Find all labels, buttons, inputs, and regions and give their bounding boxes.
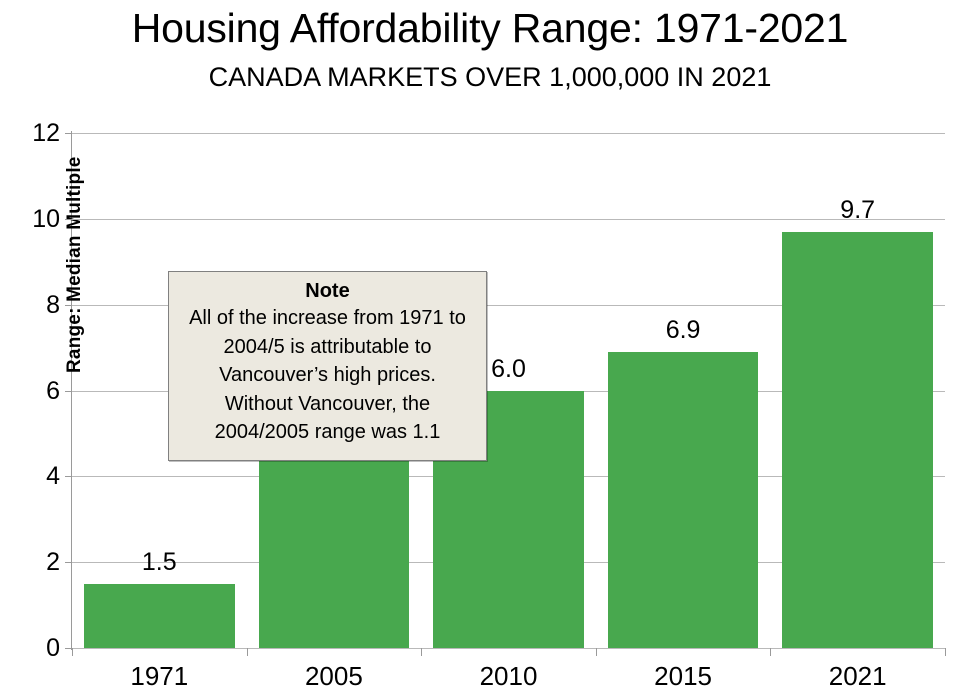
bar-value-label-2015: 6.9 bbox=[608, 318, 759, 343]
x-tick-label-1971: 1971 bbox=[72, 661, 247, 691]
y-tick-mark-4 bbox=[65, 476, 72, 477]
bar-1971[interactable] bbox=[84, 584, 235, 648]
note-line-2: 2004/5 is attributable to bbox=[177, 333, 478, 362]
y-tick-mark-8 bbox=[65, 305, 72, 306]
x-tick-mark-0 bbox=[72, 648, 73, 656]
plot-area: Range: Median Multiple 024681012 1.56.16… bbox=[72, 133, 945, 648]
y-tick-label-0: 0 bbox=[2, 636, 60, 661]
x-tick-mark-3 bbox=[596, 648, 597, 656]
y-tick-mark-0 bbox=[65, 648, 72, 649]
note-line-4: Without Vancouver, the bbox=[177, 390, 478, 419]
x-tick-label-2005: 2005 bbox=[247, 661, 422, 691]
x-tick-mark-2 bbox=[421, 648, 422, 656]
y-tick-label-10: 10 bbox=[2, 207, 60, 232]
gridline-0 bbox=[72, 648, 945, 649]
bar-value-label-2021: 9.7 bbox=[782, 198, 933, 223]
note-title: Note bbox=[177, 278, 478, 304]
x-tick-mark-4 bbox=[770, 648, 771, 656]
x-tick-label-2010: 2010 bbox=[421, 661, 596, 691]
note-line-3: Vancouver’s high prices. bbox=[177, 361, 478, 390]
y-tick-label-6: 6 bbox=[2, 379, 60, 404]
note-annotation-box: Note All of the increase from 1971 to 20… bbox=[168, 271, 487, 461]
note-line-5: 2004/2005 range was 1.1 bbox=[177, 418, 478, 447]
chart-title: Housing Affordability Range: 1971-2021 bbox=[0, 4, 980, 52]
note-line-1: All of the increase from 1971 to bbox=[177, 304, 478, 333]
y-tick-mark-2 bbox=[65, 562, 72, 563]
x-tick-label-2021: 2021 bbox=[770, 661, 945, 691]
y-tick-mark-12 bbox=[65, 133, 72, 134]
gridline-12 bbox=[72, 133, 945, 134]
x-tick-mark-1 bbox=[247, 648, 248, 656]
y-tick-label-4: 4 bbox=[2, 464, 60, 489]
y-axis-title: Range: Median Multiple bbox=[64, 156, 86, 373]
x-tick-mark-5 bbox=[945, 648, 946, 656]
y-tick-mark-10 bbox=[65, 219, 72, 220]
y-tick-label-8: 8 bbox=[2, 293, 60, 318]
bar-2015[interactable] bbox=[608, 352, 759, 648]
chart-subtitle: CANADA MARKETS OVER 1,000,000 IN 2021 bbox=[0, 60, 980, 94]
y-tick-mark-6 bbox=[65, 391, 72, 392]
y-tick-label-12: 12 bbox=[2, 121, 60, 146]
x-tick-label-2015: 2015 bbox=[596, 661, 771, 691]
y-tick-label-2: 2 bbox=[2, 550, 60, 575]
bar-2021[interactable] bbox=[782, 232, 933, 648]
bar-value-label-1971: 1.5 bbox=[84, 550, 235, 575]
